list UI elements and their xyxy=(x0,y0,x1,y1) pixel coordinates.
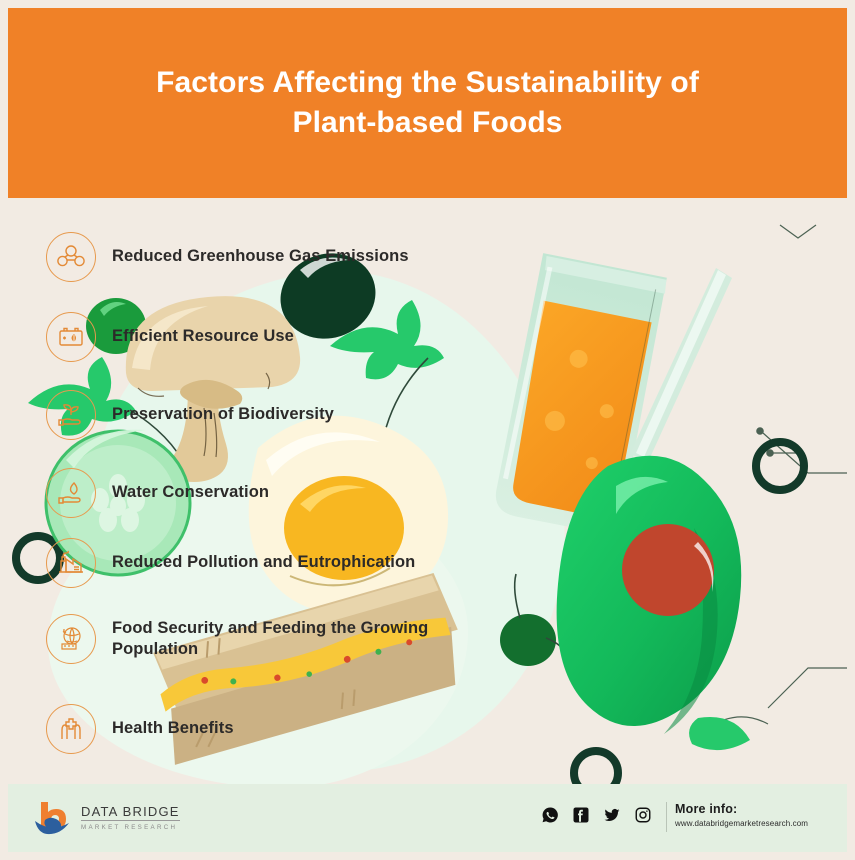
header-banner: Factors Affecting the Sustainability of … xyxy=(8,8,847,198)
factor-item-4[interactable]: Water Conservation xyxy=(46,468,446,518)
content-area: Reduced Greenhouse Gas Emissions Efficie… xyxy=(8,198,847,784)
title-line-1: Factors Affecting the Sustainability of xyxy=(108,63,748,103)
factory-icon xyxy=(46,538,96,588)
factor-item-3[interactable]: Preservation of Biodiversity xyxy=(46,390,446,440)
social-links xyxy=(541,806,652,824)
factor-label: Reduced Greenhouse Gas Emissions xyxy=(112,246,409,267)
globe-food-icon xyxy=(46,614,96,664)
footer-divider xyxy=(666,802,667,832)
factor-item-6[interactable]: Food Security and Feeding the Growing Po… xyxy=(46,614,446,664)
hands-cross-icon xyxy=(46,704,96,754)
eco-battery-icon xyxy=(46,312,96,362)
factor-label: Water Conservation xyxy=(112,482,269,503)
logo-title: DATA BRIDGE xyxy=(81,804,180,821)
line-decoration-icon xyxy=(708,225,847,728)
more-info-block: More info: www.databridgemarketresearch.… xyxy=(675,802,825,828)
twitter-icon[interactable] xyxy=(603,806,621,824)
molecule-icon xyxy=(46,232,96,282)
factor-label: Reduced Pollution and Eutrophication xyxy=(112,552,415,573)
brand-logo[interactable]: DATA BRIDGE MARKET RESEARCH xyxy=(32,796,180,838)
factor-item-7[interactable]: Health Benefits xyxy=(46,704,446,754)
factor-item-5[interactable]: Reduced Pollution and Eutrophication xyxy=(46,538,446,588)
hand-sprout-icon xyxy=(46,390,96,440)
title-line-2: Plant-based Foods xyxy=(108,103,748,143)
instagram-icon[interactable] xyxy=(634,806,652,824)
whatsapp-icon[interactable] xyxy=(541,806,559,824)
factor-label: Health Benefits xyxy=(112,718,234,739)
factor-item-2[interactable]: Efficient Resource Use xyxy=(46,312,446,362)
factor-label: Efficient Resource Use xyxy=(112,326,294,347)
logo-subtitle: MARKET RESEARCH xyxy=(81,824,180,831)
page-title: Factors Affecting the Sustainability of … xyxy=(108,63,748,143)
factor-label: Food Security and Feeding the Growing Po… xyxy=(112,618,446,660)
website-url[interactable]: www.databridgemarketresearch.com xyxy=(675,819,825,828)
footer-bar: DATA BRIDGE MARKET RESEARCH More xyxy=(8,784,847,852)
factor-item-1[interactable]: Reduced Greenhouse Gas Emissions xyxy=(46,232,446,282)
data-bridge-logo-icon xyxy=(32,796,74,838)
avocado-icon xyxy=(557,456,742,734)
more-info-label: More info: xyxy=(675,802,825,816)
logo-text-block: DATA BRIDGE MARKET RESEARCH xyxy=(81,804,180,831)
hand-waterdrop-icon xyxy=(46,468,96,518)
factor-label: Preservation of Biodiversity xyxy=(112,404,334,425)
infographic-poster: Factors Affecting the Sustainability of … xyxy=(0,0,855,860)
facebook-icon[interactable] xyxy=(572,806,590,824)
